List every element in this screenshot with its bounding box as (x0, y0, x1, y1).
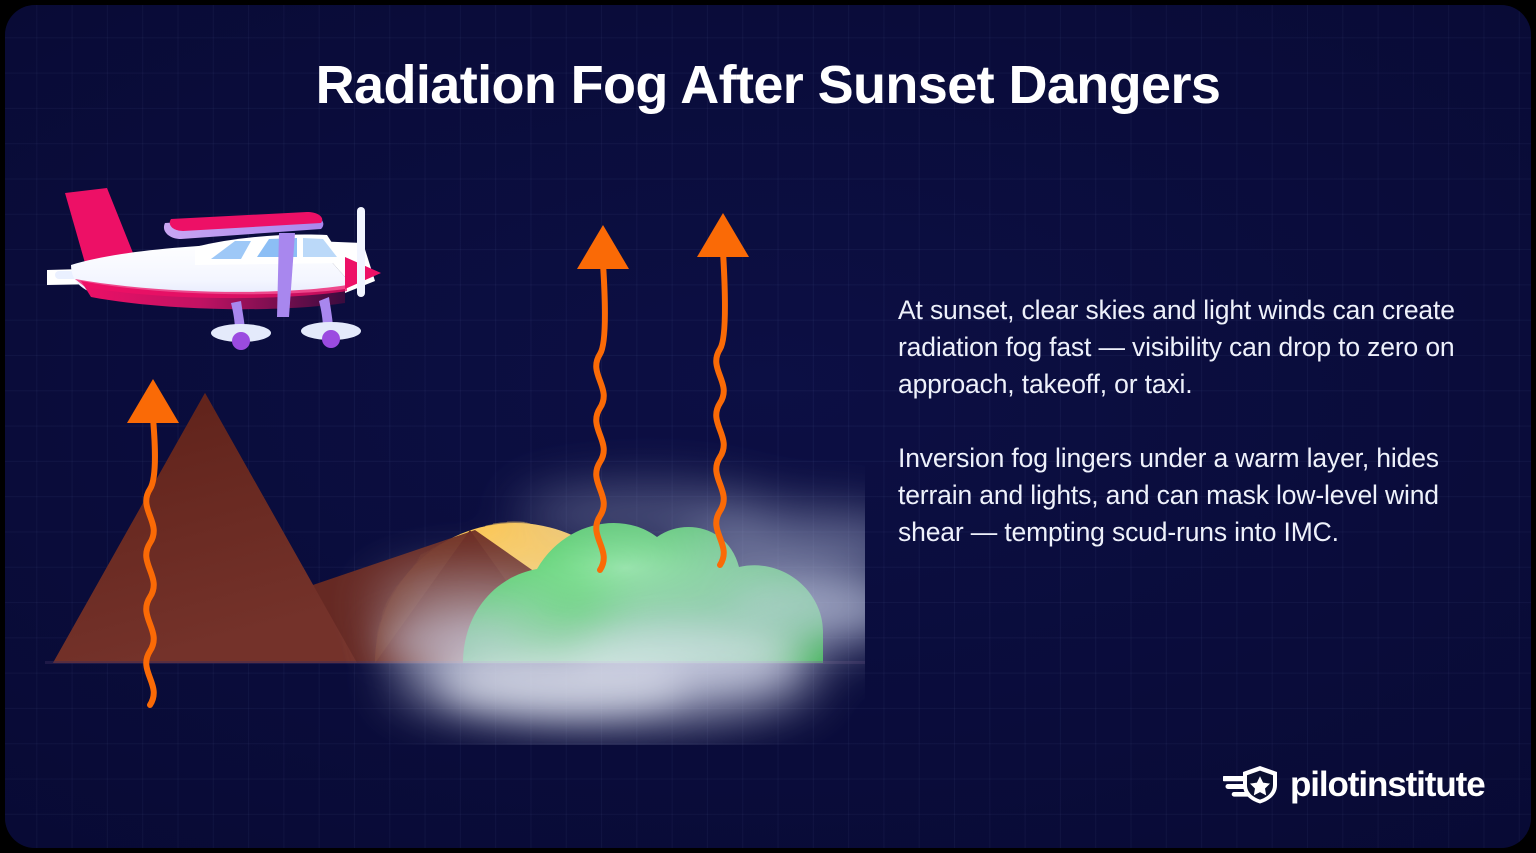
radiation-arrow-left-head (127, 379, 179, 423)
screenshot-root: Radiation Fog After Sunset Dangers (0, 0, 1536, 853)
illustration (45, 185, 865, 745)
brand-logo: pilotinstitute (1223, 763, 1485, 805)
paragraph-1: At sunset, clear skies and light winds c… (898, 292, 1488, 403)
page-title: Radiation Fog After Sunset Dangers (5, 54, 1531, 116)
infographic-card: Radiation Fog After Sunset Dangers (5, 5, 1531, 848)
radiation-arrow-middle-head (577, 225, 629, 269)
airplane (47, 188, 381, 350)
logo-wordmark: pilotinstitute (1290, 767, 1485, 802)
winged-shield-star-icon (1223, 763, 1279, 805)
fog-bank (375, 487, 865, 721)
radiation-arrow-right-head (697, 213, 749, 257)
paragraph-2: Inversion fog lingers under a warm layer… (898, 440, 1488, 551)
body-copy: At sunset, clear skies and light winds c… (898, 292, 1488, 551)
